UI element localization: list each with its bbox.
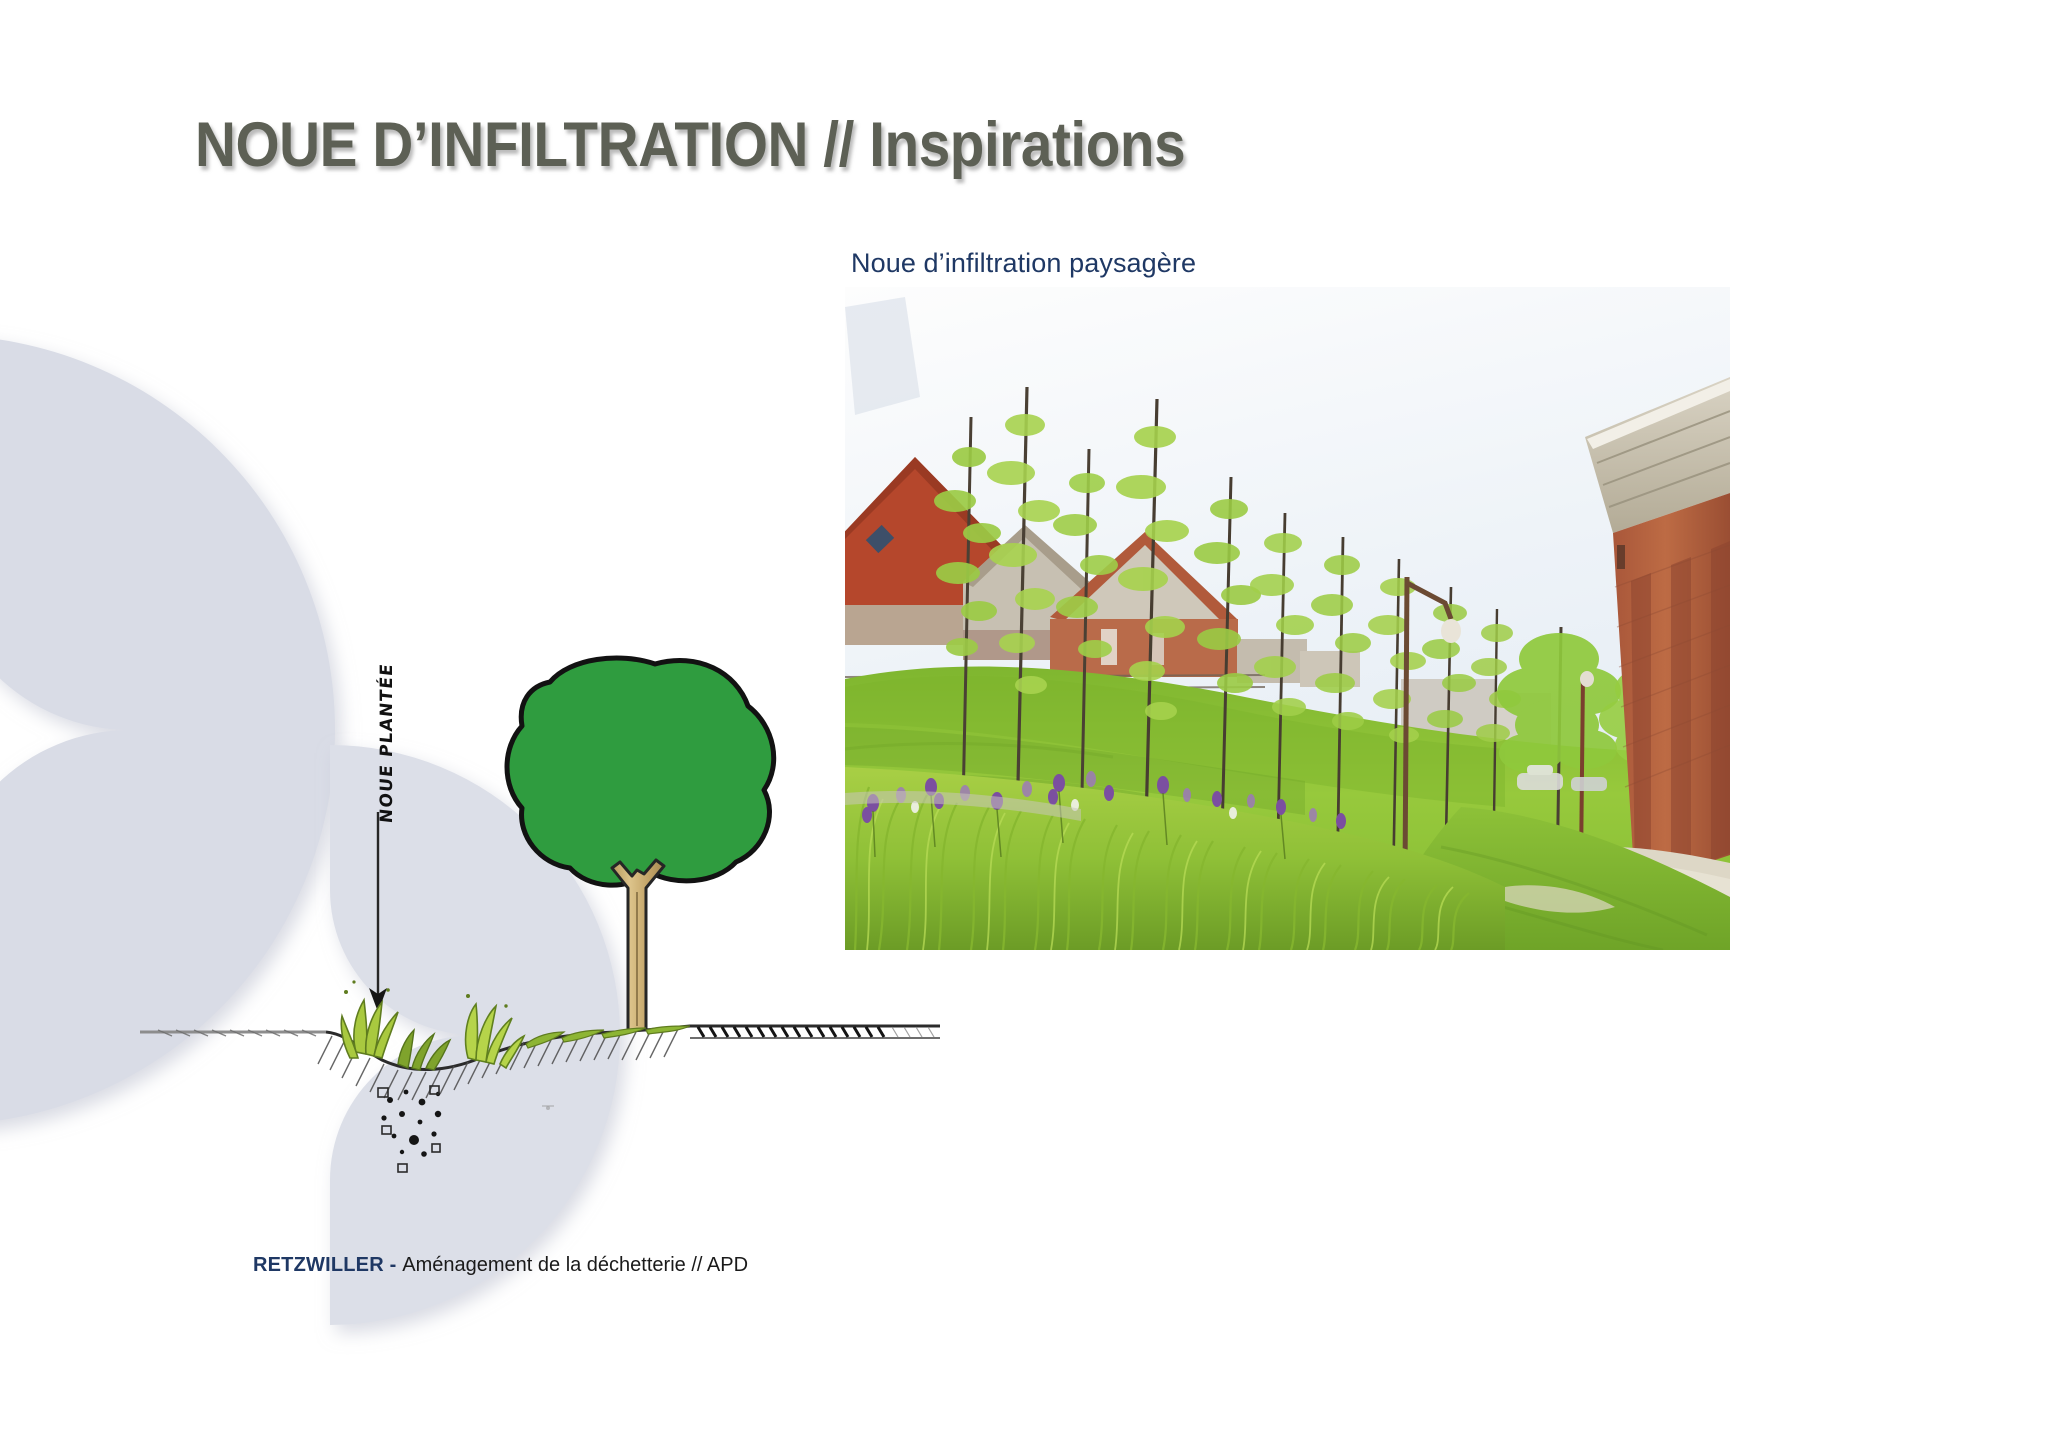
footer-description: Aménagement de la déchetterie // APD <box>402 1254 748 1276</box>
footer: RETZWILLER - Aménagement de la déchetter… <box>253 1254 748 1277</box>
sketch-annotation-noue-plantee: NOUE PLANTÉE <box>377 662 397 824</box>
page-title: NOUE D’INFILTRATION // Inspirations <box>195 112 1185 178</box>
sketch-illustration <box>150 640 940 1130</box>
sketch-pavement <box>690 1026 940 1038</box>
sketch-cross-section <box>150 640 940 1130</box>
sketch-tree-canopy <box>507 658 774 885</box>
sketch-natural-grade-left <box>140 1030 326 1036</box>
footer-organisation: RETZWILLER - <box>253 1254 402 1276</box>
photo-caption: Noue d’infiltration paysagère <box>851 248 1196 279</box>
photo-noue-infiltration-paysagere <box>845 287 1730 950</box>
page-title-container: NOUE D’INFILTRATION // Inspirations <box>0 112 1380 178</box>
sketch-gravel-trench <box>378 1086 441 1172</box>
sketch-tree <box>507 658 774 1030</box>
slide-canvas: NOUE D’INFILTRATION // Inspirations Noue… <box>0 0 2048 1448</box>
photo-illustration <box>845 287 1730 950</box>
sketch-runoff-arrow <box>369 812 387 1012</box>
